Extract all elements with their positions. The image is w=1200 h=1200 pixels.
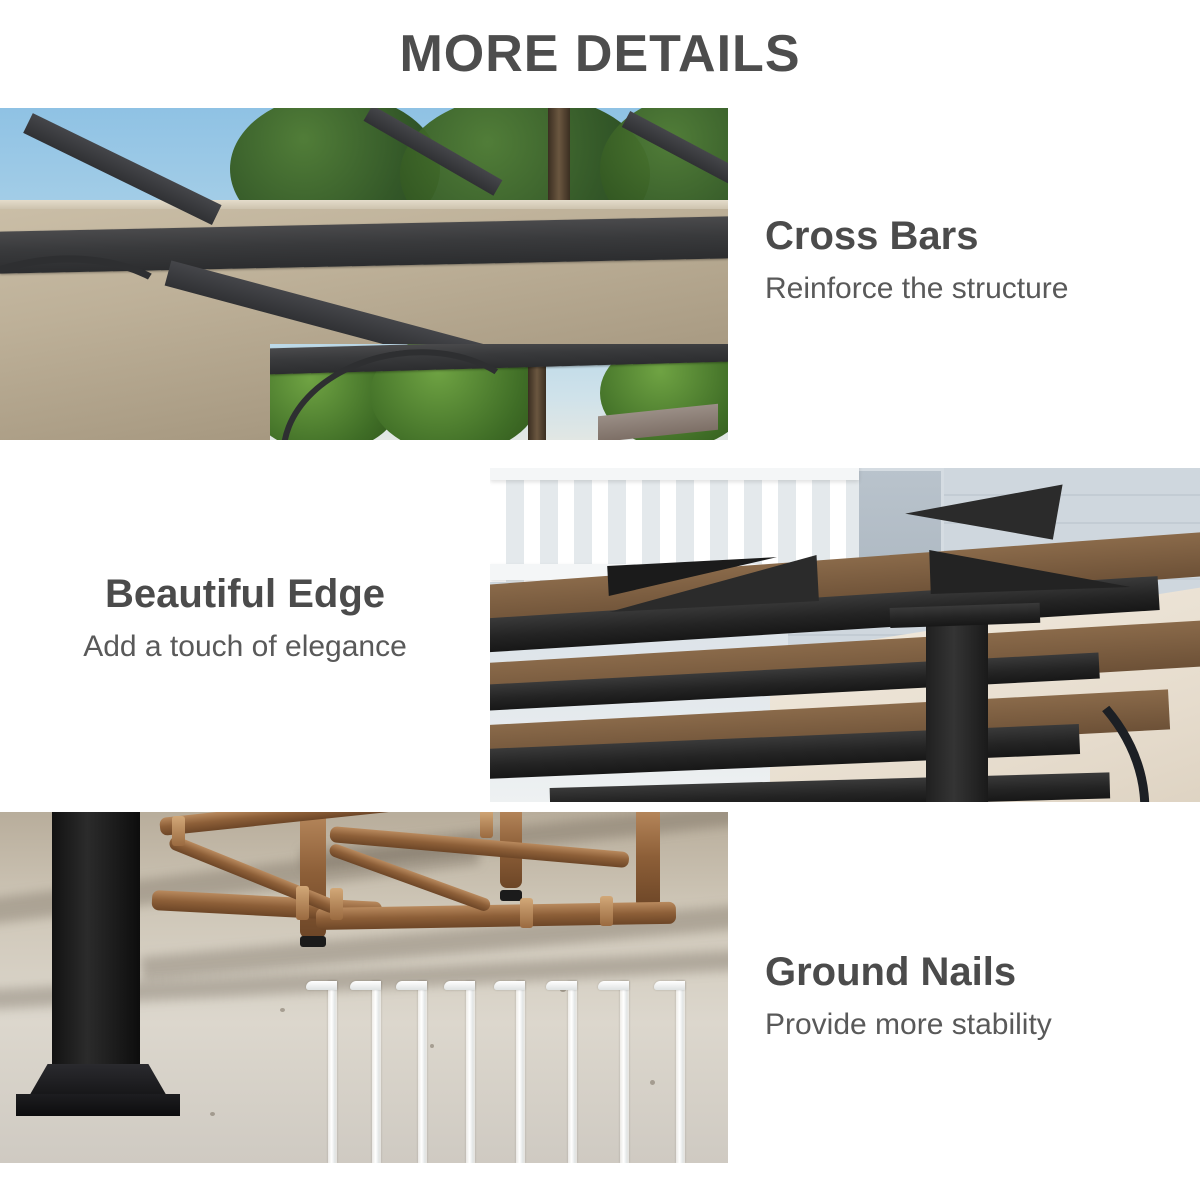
ground-nail <box>516 981 525 1163</box>
ground-nail <box>676 981 685 1163</box>
furniture-foot <box>300 936 326 947</box>
ground-nail <box>620 981 629 1163</box>
ground-nail <box>568 981 577 1163</box>
feature-text-ground-nails: Ground Nails Provide more stability <box>765 950 1185 1043</box>
feature-title: Beautiful Edge <box>30 572 460 617</box>
feature-title: Ground Nails <box>765 950 1185 995</box>
ground-nail <box>372 981 381 1163</box>
feature-text-beautiful-edge: Beautiful Edge Add a touch of elegance <box>30 572 460 665</box>
rattan-joint-wrap <box>600 896 613 926</box>
railing-cap <box>490 468 859 480</box>
feature-subtitle: Add a touch of elegance <box>30 629 460 665</box>
feature-subtitle: Reinforce the structure <box>765 271 1185 307</box>
post-base-upper <box>28 1064 168 1098</box>
rattan-joint-wrap <box>480 812 493 838</box>
rattan-joint-wrap <box>296 886 309 920</box>
page-header: MORE DETAILS <box>0 0 1200 108</box>
rattan-joint-wrap <box>330 888 343 920</box>
ground-speck <box>280 1008 285 1012</box>
rattan-joint-wrap <box>172 816 185 846</box>
decorative-edge-finial <box>929 543 1130 594</box>
rattan-joint-wrap <box>520 898 533 928</box>
ground-nail <box>328 981 337 1163</box>
feature-subtitle: Provide more stability <box>765 1007 1185 1043</box>
furniture-foot <box>500 890 522 901</box>
post-base-lower <box>16 1094 180 1116</box>
ground-speck <box>430 1044 434 1048</box>
ground-speck <box>650 1080 655 1085</box>
feature-image-cross-bars <box>0 108 728 440</box>
feature-image-ground-nails <box>0 812 728 1163</box>
ground-nail <box>466 981 475 1163</box>
ground-speck <box>210 1112 215 1116</box>
feature-image-beautiful-edge <box>490 468 1200 802</box>
ground-nail <box>418 981 427 1163</box>
page-title: MORE DETAILS <box>399 28 800 80</box>
pergola-post <box>52 812 140 1068</box>
canopy-edge <box>0 200 728 209</box>
garden-view <box>270 344 728 440</box>
feature-text-cross-bars: Cross Bars Reinforce the structure <box>765 214 1185 307</box>
feature-title: Cross Bars <box>765 214 1185 259</box>
rattan-leg <box>636 812 660 908</box>
